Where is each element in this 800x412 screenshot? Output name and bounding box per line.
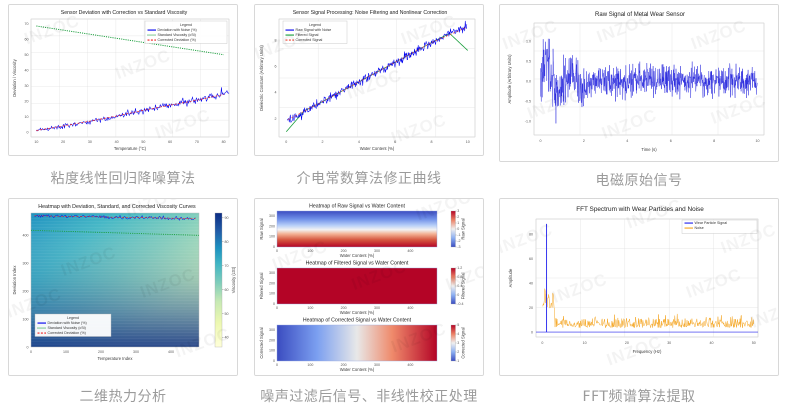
svg-text:100: 100: [307, 249, 313, 253]
svg-text:10: 10: [34, 140, 38, 144]
svg-text:Legend: Legend: [180, 23, 192, 27]
chart-title: Raw Signal of Metal Wear Sensor: [595, 12, 685, 18]
svg-text:Deviation Index: Deviation Index: [12, 265, 17, 295]
svg-text:200: 200: [269, 224, 275, 228]
svg-text:200: 200: [23, 289, 29, 293]
svg-text:30: 30: [25, 84, 29, 88]
panel-fft-spectrum: FFT Spectrum with Wear Particles and Noi…: [492, 196, 786, 410]
svg-text:1: 1: [457, 221, 459, 225]
svg-text:100: 100: [307, 306, 313, 310]
svg-text:60: 60: [25, 37, 29, 41]
svg-text:-1.0: -1.0: [525, 120, 531, 124]
svg-text:0: 0: [276, 249, 278, 253]
svg-text:Temperature Index: Temperature Index: [98, 356, 134, 361]
chart-viscosity-deviation: Sensor Deviation with Correction vs Stan…: [9, 5, 238, 156]
svg-text:0: 0: [273, 359, 275, 363]
svg-text:10: 10: [755, 139, 759, 143]
svg-text:70: 70: [195, 140, 199, 144]
chart-signal-heatmaps: Heatmap of Raw Signal vs Water Content01…: [255, 199, 484, 376]
panel-viscosity-deviation: Sensor Deviation with Correction vs Stan…: [0, 0, 246, 196]
svg-text:Heatmap of Corrected Signal vs: Heatmap of Corrected Signal vs Water Con…: [303, 318, 412, 324]
svg-text:Legend: Legend: [67, 316, 79, 320]
svg-text:Heatmap of Filtered Signal vs: Heatmap of Filtered Signal vs Water Cont…: [306, 261, 409, 267]
svg-text:0: 0: [541, 341, 543, 345]
svg-text:Temperature (°C): Temperature (°C): [114, 146, 147, 151]
chart-card-3: Raw Signal of Metal Wear Sensor 0246810-…: [499, 4, 779, 162]
svg-text:4: 4: [626, 139, 628, 143]
svg-text:Water Content (%): Water Content (%): [340, 367, 375, 372]
svg-text:400: 400: [23, 234, 29, 238]
svg-text:Corrected Signal: Corrected Signal: [461, 327, 466, 358]
chart-card-2: Sensor Signal Processing: Noise Filterin…: [254, 4, 484, 156]
chart-card-4: Heatmap with Deviation, Standard, and Co…: [8, 198, 238, 376]
svg-text:300: 300: [269, 328, 275, 332]
svg-text:50: 50: [225, 312, 229, 316]
svg-text:Filtered Signal: Filtered Signal: [461, 273, 466, 300]
svg-text:300: 300: [133, 350, 139, 354]
svg-text:Raw Signal: Raw Signal: [259, 218, 264, 239]
svg-text:2: 2: [322, 140, 324, 144]
svg-text:Viscosity (cSt): Viscosity (cSt): [231, 266, 236, 293]
svg-text:Amplitude (Arbitrary Units): Amplitude (Arbitrary Units): [507, 54, 512, 104]
svg-text:20: 20: [61, 140, 65, 144]
svg-text:1: 1: [457, 359, 459, 363]
svg-text:10: 10: [25, 115, 29, 119]
svg-text:1.0: 1.0: [526, 40, 531, 44]
svg-text:20: 20: [25, 100, 29, 104]
svg-text:80: 80: [529, 232, 533, 236]
caption-1: 粘度线性回归降噪算法: [0, 168, 246, 188]
svg-text:200: 200: [269, 338, 275, 342]
chart-fft-spectrum: FFT Spectrum with Wear Particles and Noi…: [500, 199, 779, 376]
svg-text:2: 2: [275, 117, 277, 121]
svg-text:Heatmap of Raw Signal vs Water: Heatmap of Raw Signal vs Water Content: [309, 204, 405, 210]
svg-text:5: 5: [457, 323, 459, 327]
svg-text:0: 0: [30, 350, 32, 354]
svg-text:Water Content (%): Water Content (%): [360, 146, 395, 151]
svg-text:0: 0: [276, 306, 278, 310]
caption-5: 噪声过滤后信号、非线性校正处理: [246, 386, 492, 406]
svg-text:30: 30: [88, 140, 92, 144]
svg-text:0: 0: [273, 245, 275, 249]
panel-raw-wear-signal: Raw Signal of Metal Wear Sensor 0246810-…: [492, 0, 786, 196]
svg-text:Deviation with Noise (%): Deviation with Noise (%): [48, 321, 87, 325]
svg-text:Noise: Noise: [695, 226, 704, 230]
svg-text:60: 60: [529, 257, 533, 261]
svg-text:400: 400: [407, 306, 413, 310]
svg-text:200: 200: [269, 281, 275, 285]
svg-text:100: 100: [269, 235, 275, 239]
svg-text:50: 50: [25, 53, 29, 57]
svg-text:20: 20: [625, 341, 629, 345]
svg-text:10: 10: [466, 140, 470, 144]
svg-text:50: 50: [752, 341, 756, 345]
svg-text:100: 100: [63, 350, 69, 354]
caption-6: FFT频谱算法提取: [492, 386, 786, 406]
svg-text:200: 200: [98, 350, 104, 354]
svg-text:3: 3: [457, 209, 459, 213]
chart-card-1: Sensor Deviation with Correction vs Stan…: [8, 4, 238, 156]
svg-text:-0.4: -0.4: [457, 302, 463, 306]
svg-text:90: 90: [225, 216, 229, 220]
svg-text:Corrected Deviation (%): Corrected Deviation (%): [158, 38, 196, 42]
chart-title: FFT Spectrum with Wear Particles and Noi…: [576, 206, 704, 213]
svg-text:70: 70: [25, 22, 29, 26]
svg-text:Corrected Signal: Corrected Signal: [259, 327, 264, 358]
svg-text:400: 400: [407, 363, 413, 367]
svg-text:0: 0: [27, 345, 29, 349]
svg-text:100: 100: [307, 363, 313, 367]
svg-text:0: 0: [540, 139, 542, 143]
svg-text:40: 40: [529, 281, 533, 285]
chart-viscosity-heatmap: Heatmap with Deviation, Standard, and Co…: [9, 199, 238, 376]
panel-dielectric-signal: Sensor Signal Processing: Noise Filterin…: [246, 0, 492, 196]
svg-text:0: 0: [457, 293, 459, 297]
svg-text:0: 0: [27, 131, 29, 135]
svg-text:0: 0: [276, 363, 278, 367]
svg-text:40: 40: [115, 140, 119, 144]
svg-text:Time (s): Time (s): [641, 147, 657, 152]
svg-text:40: 40: [709, 341, 713, 345]
svg-text:4: 4: [457, 332, 459, 336]
svg-text:400: 400: [407, 249, 413, 253]
svg-text:Raw Signal: Raw Signal: [461, 218, 466, 239]
svg-text:1.2: 1.2: [457, 266, 462, 270]
chart-title: Sensor Signal Processing: Noise Filterin…: [293, 10, 448, 16]
panel-signal-heatmaps: Heatmap of Raw Signal vs Water Content01…: [246, 196, 492, 410]
svg-text:0.5: 0.5: [526, 60, 531, 64]
svg-text:8: 8: [275, 38, 277, 42]
svg-text:0: 0: [285, 140, 287, 144]
svg-text:Legend: Legend: [309, 23, 321, 27]
svg-text:100: 100: [23, 317, 29, 321]
svg-text:4: 4: [275, 91, 277, 95]
svg-text:80: 80: [222, 140, 226, 144]
svg-text:70: 70: [225, 264, 229, 268]
svg-text:80: 80: [225, 240, 229, 244]
svg-text:0: 0: [273, 302, 275, 306]
svg-text:-3: -3: [457, 245, 460, 249]
svg-text:40: 40: [225, 336, 229, 340]
svg-text:Corrected Signal: Corrected Signal: [296, 38, 323, 42]
svg-text:Water Content (%): Water Content (%): [340, 253, 375, 258]
svg-text:400: 400: [168, 350, 174, 354]
svg-text:300: 300: [374, 363, 380, 367]
svg-text:100: 100: [269, 292, 275, 296]
svg-text:2: 2: [583, 139, 585, 143]
svg-text:300: 300: [269, 214, 275, 218]
svg-text:-0.5: -0.5: [525, 100, 531, 104]
chart-card-6: FFT Spectrum with Wear Particles and Noi…: [499, 198, 779, 376]
svg-text:Filtered Signal: Filtered Signal: [259, 273, 264, 300]
svg-text:Water Content (%): Water Content (%): [340, 310, 375, 315]
svg-text:50: 50: [141, 140, 145, 144]
svg-text:0.0: 0.0: [526, 80, 531, 84]
svg-text:20: 20: [529, 306, 533, 310]
chart-title: Sensor Deviation with Correction vs Stan…: [61, 10, 188, 16]
caption-4: 二维热力分析: [0, 386, 246, 406]
svg-text:Frequency (Hz): Frequency (Hz): [633, 349, 662, 354]
svg-text:Filtered Signal: Filtered Signal: [296, 33, 319, 37]
svg-text:Standard Viscosity (cSt): Standard Viscosity (cSt): [158, 33, 196, 37]
caption-3: 电磁原始信号: [492, 170, 786, 190]
svg-text:Corrected Deviation (%): Corrected Deviation (%): [48, 331, 86, 335]
svg-text:10: 10: [583, 341, 587, 345]
svg-text:300: 300: [269, 271, 275, 275]
svg-text:4: 4: [358, 140, 360, 144]
svg-text:0: 0: [531, 331, 533, 335]
svg-text:8: 8: [430, 140, 432, 144]
svg-text:40: 40: [25, 69, 29, 73]
svg-text:Standard Viscosity (cSt): Standard Viscosity (cSt): [48, 326, 86, 330]
svg-text:Wear Particle Signal: Wear Particle Signal: [695, 221, 728, 225]
chart-title: Heatmap with Deviation, Standard, and Co…: [38, 204, 196, 210]
chart-raw-wear-signal: Raw Signal of Metal Wear Sensor 0246810-…: [500, 5, 779, 162]
svg-text:Dielectric Constant (Arbitrary: Dielectric Constant (Arbitrary Units): [259, 45, 264, 111]
svg-text:60: 60: [225, 288, 229, 292]
svg-text:2: 2: [457, 215, 459, 219]
svg-text:300: 300: [23, 262, 29, 266]
svg-text:300: 300: [374, 249, 380, 253]
panel-viscosity-heatmap: Heatmap with Deviation, Standard, and Co…: [0, 196, 246, 410]
svg-text:8: 8: [713, 139, 715, 143]
svg-text:30: 30: [667, 341, 671, 345]
svg-text:Deviation with Noise (%): Deviation with Noise (%): [158, 28, 197, 32]
svg-text:60: 60: [168, 140, 172, 144]
svg-text:Amplitude: Amplitude: [508, 268, 513, 287]
svg-text:100: 100: [269, 349, 275, 353]
svg-text:0: 0: [457, 227, 459, 231]
svg-text:300: 300: [374, 306, 380, 310]
svg-text:2: 2: [457, 350, 459, 354]
svg-text:6: 6: [670, 139, 672, 143]
svg-text:3: 3: [457, 341, 459, 345]
svg-text:Deviation / Viscosity: Deviation / Viscosity: [12, 58, 17, 96]
svg-text:Raw Signal with Noise: Raw Signal with Noise: [296, 28, 332, 32]
svg-text:6: 6: [394, 140, 396, 144]
caption-2: 介电常数算法修正曲线: [246, 168, 492, 188]
svg-text:6: 6: [275, 65, 277, 69]
chart-dielectric-signal: Sensor Signal Processing: Noise Filterin…: [255, 5, 484, 156]
chart-card-5: Heatmap of Raw Signal vs Water Content01…: [254, 198, 484, 376]
